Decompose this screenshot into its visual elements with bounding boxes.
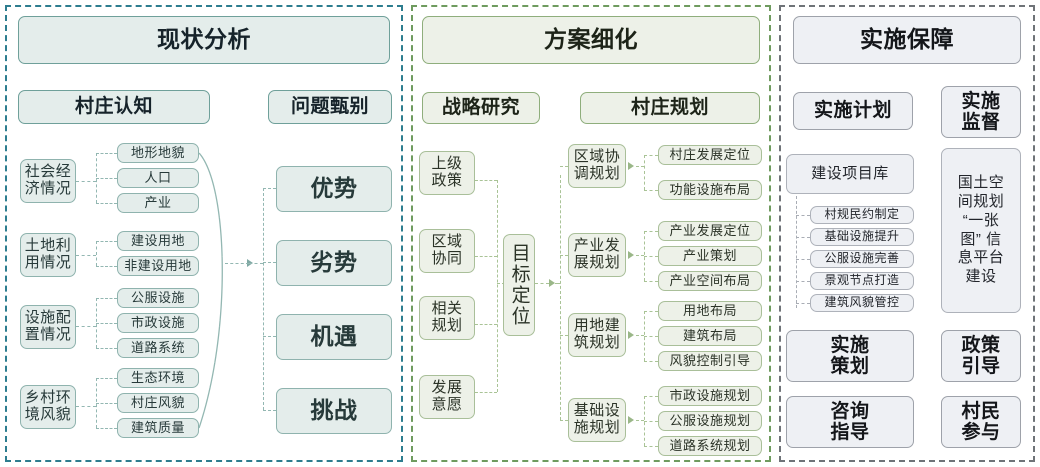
leaf-public-service-facility: 公服设施 [117, 288, 199, 308]
connector-road-system [96, 348, 117, 349]
connector-industry-development-positioning [644, 231, 658, 232]
connector-project-library-spine [796, 196, 797, 308]
swot-strength: 优势 [276, 166, 392, 212]
connector-industry-planning [644, 256, 658, 257]
group-label-rural-environment: 乡村环 境风貌 [20, 385, 76, 429]
swot-weakness: 劣势 [276, 240, 392, 286]
extra-policy-guidance: 政策 引导 [941, 330, 1021, 382]
section-heading-strategy-research: 战略研究 [422, 92, 540, 124]
leaf-functional-facility-layout: 功能设施布局 [658, 180, 762, 200]
connector-planning-land-building [560, 335, 568, 336]
section-heading-implementation-supervision: 实施 监督 [941, 86, 1021, 138]
connector-land-building-arrow-join [636, 335, 644, 336]
strategy-input-superior-policy: 上级 政策 [419, 151, 475, 195]
connector-municipal-facility [96, 323, 117, 324]
connector-terrain [96, 153, 117, 154]
arrow-infrastructure-group [628, 416, 634, 424]
leaf-industry-spatial-layout: 产业空间布局 [658, 271, 762, 291]
connector-building-quality [96, 428, 117, 429]
connector-building-appearance-control [796, 303, 810, 304]
connector-arrow-to-planning-spine [555, 283, 560, 284]
connector-land-layout [644, 311, 658, 312]
section-heading-village-planning: 村庄规划 [580, 92, 760, 124]
extra-implementation-strategy: 实施 策划 [786, 330, 914, 382]
connector-industry-spatial-layout [644, 281, 658, 282]
leaf-industry: 产业 [117, 193, 199, 213]
connector-regional-arrow-join [636, 166, 644, 167]
connector-planning-infrastructure [560, 420, 568, 421]
connector-village-regulation-formulation [796, 215, 810, 216]
connector-functional-facility-layout [644, 190, 658, 191]
swot-challenge: 挑战 [276, 388, 392, 434]
hub-target-positioning: 目标定位 [503, 234, 535, 336]
connector-infrastructure-arrow-join [636, 420, 644, 421]
connector-public-service-facility [96, 298, 117, 299]
group-label-facility-allocation: 设施配 置情况 [20, 305, 76, 349]
connector-regional-children-spine [644, 155, 645, 190]
leaf-building-appearance-control: 建筑风貌管控 [810, 294, 914, 312]
connector-swot-spine [263, 188, 264, 410]
connector-land-use-stem [76, 255, 96, 256]
group-label-social-economy: 社会经 济情况 [20, 159, 76, 203]
connector-arrow-to-swot-spine [249, 263, 263, 264]
extra-consulting-guidance: 咨询 指导 [786, 396, 914, 448]
connector-hub-out [535, 283, 549, 284]
connector-land-use-spine [96, 241, 97, 266]
planning-group-industry-development: 产业发 展规划 [568, 233, 626, 277]
platform-national-spatial-planning-one-map: 国土空 间规划 “一张 图” 信 息平台 建设 [941, 148, 1021, 313]
leaf-industry-planning: 产业策划 [658, 246, 762, 266]
connector-swot-weakness [263, 262, 276, 263]
connector-swot-challenge [263, 410, 276, 411]
leaf-population: 人口 [117, 168, 199, 188]
leaf-public-service-facility-planning: 公服设施规划 [658, 411, 762, 431]
swot-opportunity: 机遇 [276, 314, 392, 360]
connector-industry-arrow-join [636, 255, 644, 256]
leaf-appearance-control-guidance: 风貌控制引导 [658, 351, 762, 371]
leaf-village-appearance: 村庄风貌 [117, 393, 199, 413]
leaf-building-layout: 建筑布局 [658, 326, 762, 346]
connector-ecological-environment [96, 378, 117, 379]
arrow-industry-group [628, 251, 634, 259]
leaf-road-system-planning: 道路系统规划 [658, 436, 762, 456]
leaf-public-service-improvement: 公服设施完善 [810, 250, 914, 268]
connector-swot-opportunity [263, 336, 276, 337]
section-heading-village-cognition: 村庄认知 [18, 90, 210, 124]
planning-group-infrastructure: 基础设 施规划 [568, 398, 626, 442]
leaf-ecological-environment: 生态环境 [117, 368, 199, 388]
leaf-municipal-facility: 市政设施 [117, 313, 199, 333]
connector-village-development-positioning [644, 155, 658, 156]
connector-rural-environment-stem [76, 406, 96, 407]
panel-title-current-situation-analysis: 现状分析 [18, 16, 390, 64]
section-heading-implementation-plan: 实施计划 [793, 92, 913, 130]
connector-infrastructure-upgrade [796, 237, 810, 238]
connector-planning-regional [560, 166, 568, 167]
connector-public-service-facility-planning [644, 421, 658, 422]
planning-group-regional-coordination: 区域协 调规划 [568, 144, 626, 188]
connector-industry [96, 203, 117, 204]
connector-related-planning [475, 324, 497, 325]
diagram-canvas: 现状分析 村庄认知 问题甄别 社会经 济情况 地形地貌 人口 产业 土地利 用情… [0, 0, 1040, 467]
panel-title-implementation-assurance: 实施保障 [793, 16, 1021, 64]
leaf-landscape-node-creation: 景观节点打造 [810, 272, 914, 290]
leaf-industry-development-positioning: 产业发展定位 [658, 221, 762, 241]
connector-swot-strength [263, 188, 276, 189]
arrow-regional-group [628, 162, 634, 170]
arrow-land-building-group [628, 331, 634, 339]
connector-building-layout [644, 336, 658, 337]
group-label-construction-project-library: 建设项目库 [786, 154, 914, 194]
connector-superior-policy [475, 180, 497, 181]
connector-non-construction-land [96, 266, 117, 267]
group-label-land-use: 土地利 用情况 [20, 233, 76, 277]
leaf-municipal-facility-planning: 市政设施规划 [658, 386, 762, 406]
leaf-road-system: 道路系统 [117, 338, 199, 358]
leaf-infrastructure-upgrade: 基础设施提升 [810, 228, 914, 246]
extra-villager-participation: 村民 参与 [941, 396, 1021, 448]
strategy-input-related-planning: 相关 规划 [419, 296, 475, 340]
connector-construction-land [96, 241, 117, 242]
connector-public-service-improvement [796, 259, 810, 260]
leaf-village-regulation-formulation: 村规民约制定 [810, 206, 914, 224]
section-heading-problem-identification: 问题甄别 [268, 90, 392, 124]
planning-group-land-building: 用地建 筑规划 [568, 313, 626, 357]
connector-landscape-node-creation [796, 281, 810, 282]
panel-title-plan-refinement: 方案细化 [422, 16, 760, 64]
connector-regional-coordination [475, 256, 497, 257]
strategy-input-regional-coordination: 区域 协同 [419, 229, 475, 273]
connector-population [96, 178, 117, 179]
connector-development-will [475, 392, 497, 393]
connector-strategy-spine [497, 180, 498, 392]
connector-facility-stem [76, 326, 96, 327]
connector-planning-industry [560, 255, 568, 256]
leaf-construction-land: 建设用地 [117, 231, 199, 251]
connector-curve-to-arrow [225, 263, 249, 264]
leaf-building-quality: 建筑质量 [117, 418, 199, 438]
connector-village-appearance [96, 403, 117, 404]
connector-municipal-facility-planning [644, 396, 658, 397]
connector-village-planning-spine [560, 175, 561, 420]
connector-appearance-control-guidance [644, 361, 658, 362]
leaf-village-development-positioning: 村庄发展定位 [658, 145, 762, 165]
strategy-input-development-will: 发展 意愿 [419, 375, 475, 419]
leaf-non-construction-land: 非建设用地 [117, 256, 199, 276]
leaf-terrain: 地形地貌 [117, 143, 199, 163]
connector-road-system-planning [644, 446, 658, 447]
leaf-land-layout: 用地布局 [658, 301, 762, 321]
connector-social-economy-stem [76, 181, 96, 182]
